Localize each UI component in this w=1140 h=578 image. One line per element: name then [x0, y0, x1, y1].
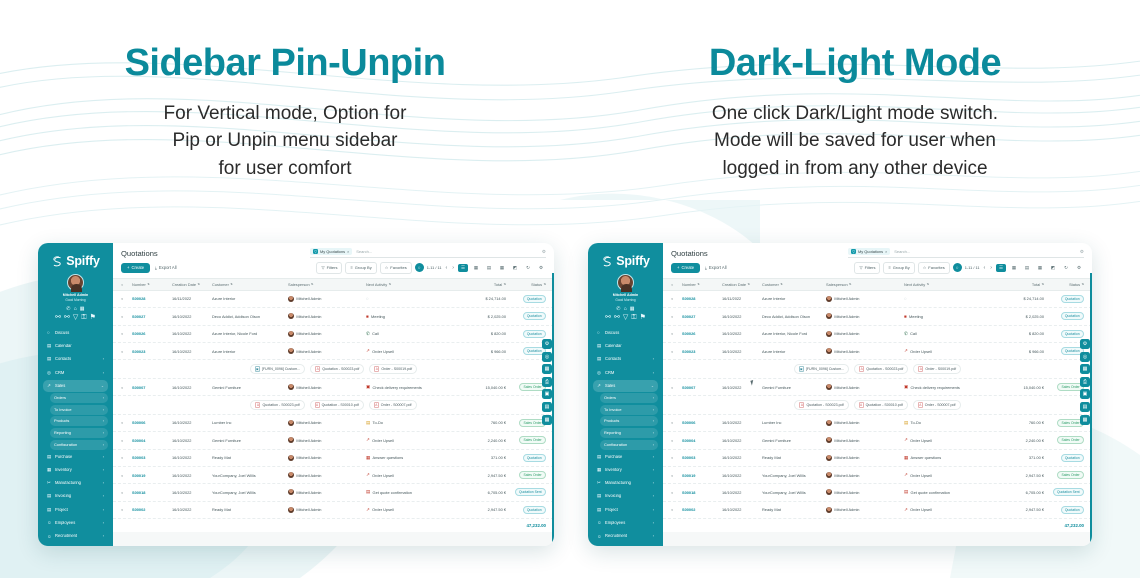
chevron-right-icon[interactable]: ›	[653, 494, 654, 498]
activity-label: Answer questions	[911, 455, 942, 460]
chevron-right-icon[interactable]: ›	[653, 396, 654, 400]
chevron-right-icon[interactable]: ›	[653, 481, 654, 485]
attachment-row: ▣[FURN_0096] Custom...AQuotation - S0002…	[663, 360, 1092, 379]
sidebar-item-discuss[interactable]: ○Discuss	[593, 327, 658, 339]
chevron-right-icon[interactable]: ›	[103, 396, 104, 400]
sidebar-item-contacts[interactable]: ▤Contacts›	[43, 354, 108, 366]
project-icon: ▤	[47, 507, 52, 513]
cell-total: $ 966.00	[458, 349, 506, 354]
sidebar-item-label: Purchase	[55, 455, 100, 459]
search-facet[interactable]: ▽My Quotations×	[848, 248, 890, 255]
row-checkbox[interactable]: ○	[121, 507, 132, 512]
pager-prev-icon[interactable]: ‹	[983, 265, 987, 271]
pager-next-icon[interactable]: ›	[451, 265, 455, 271]
select-all-checkbox[interactable]: ○	[671, 282, 682, 287]
column-header[interactable]: Number ⇅	[132, 282, 172, 287]
column-header[interactable]: Salesperson ⇅	[288, 282, 366, 287]
sidebar-item-recruitment[interactable]: ☺Recruitment›	[43, 530, 108, 542]
phone-icon[interactable]: ✆	[66, 306, 70, 313]
pivot-view-icon[interactable]: ▦	[497, 264, 507, 272]
column-header[interactable]: Total ⇅	[458, 282, 506, 287]
attachment-chip[interactable]: ▣[FURN_0096] Custom...	[250, 364, 305, 375]
user-greeting: Good Morning	[42, 298, 109, 303]
sidebar-item-discuss[interactable]: ○Discuss	[43, 327, 108, 339]
chevron-right-icon[interactable]: ›	[103, 431, 104, 435]
attachment-chip[interactable]: AQuotation - S00010.pdf	[854, 400, 908, 411]
activity-label: Order Upsell	[910, 438, 932, 443]
page-subtitle-left: For Vertical mode, Option for Pip or Unp…	[0, 100, 570, 183]
sidebar-item-label: Discuss	[605, 331, 654, 335]
note-fab-icon[interactable]: ▤	[542, 402, 552, 412]
row-checkbox[interactable]: ○	[671, 438, 682, 443]
attachment-chip[interactable]: AQuotation - S00023.pdf	[250, 400, 304, 411]
lock-icon[interactable]: ⚿	[81, 314, 86, 321]
cell-next-activity: ▣Check delivery requirements	[904, 384, 996, 390]
row-checkbox[interactable]: ○	[121, 296, 132, 301]
column-header[interactable]: Number ⇅	[682, 282, 722, 287]
sidebar-item-crm[interactable]: ◎CRM›	[593, 367, 658, 379]
brand-logo[interactable]: Spiffy	[42, 254, 109, 268]
sidebar-item-purchase[interactable]: ▤Purchase›	[593, 451, 658, 463]
sidebar-item-products[interactable]: Products›	[600, 416, 658, 426]
attachment-chip[interactable]: AOrder - S00007.pdf	[369, 400, 417, 411]
grid-fab-icon[interactable]: ▦	[1080, 364, 1090, 374]
column-header[interactable]: Next Activity ⇅	[904, 282, 996, 287]
sidebar-item-project[interactable]: ▤Project›	[43, 504, 108, 516]
camera-fab-icon[interactable]: ◎	[542, 352, 552, 362]
search-input[interactable]: ▽My Quotations×Search...⚙	[848, 248, 1084, 258]
sidebar-left[interactable]: SpiffyMitchell AdminGood Morning✆⌂▦⚯⚯▽⚿⚑…	[38, 243, 113, 546]
sidebar-item-contacts[interactable]: ▤Contacts›	[593, 354, 658, 366]
cell-total: $ 24,714.00	[996, 296, 1044, 301]
printer-fab-icon[interactable]: ⎙	[1080, 377, 1090, 387]
sidebar-right[interactable]: SpiffyMitchell AdminGood Morning✆⌂▦⚯⚯▽⚿⚑…	[588, 243, 663, 546]
page-title-left: Sidebar Pin-Unpin	[0, 44, 570, 84]
status-badge: Quotation	[506, 454, 546, 462]
sidebar-item-calendar[interactable]: ▤Calendar	[43, 340, 108, 352]
calc-fab-icon[interactable]: ▦	[1080, 415, 1090, 425]
table-row[interactable]: ○S0001916/10/2022YourCompany, Joel Willi…	[113, 467, 554, 484]
avatar-badge[interactable]: ○	[953, 263, 962, 272]
filter-icon[interactable]: ▽	[623, 314, 628, 321]
column-header[interactable]: Salesperson ⇅	[826, 282, 904, 287]
group-by-button[interactable]: ≡Group By	[345, 262, 376, 274]
attachment-chip[interactable]: AOrder - S00007.pdf	[913, 400, 961, 411]
save-fab-icon[interactable]: ▣	[1080, 389, 1090, 399]
sidebar-item-label: To Invoice	[54, 408, 100, 412]
sidebar-item-reporting[interactable]: Reporting›	[600, 428, 658, 438]
select-all-checkbox[interactable]: ○	[121, 282, 132, 287]
todo-icon: ▤	[366, 420, 370, 426]
sidebar-item-label: Manufacturing	[55, 481, 100, 485]
table-row[interactable]: ○S0002716/10/2022Deco Addict, Addison Ol…	[663, 308, 1092, 325]
chevron-right-icon[interactable]: ›	[653, 357, 654, 361]
pivot-view-icon[interactable]: ▦	[1035, 264, 1045, 272]
sidebar-item-invoicing[interactable]: ▤Invoicing›	[593, 491, 658, 503]
sidebar-item-sales[interactable]: ↗Sales⌄	[43, 380, 108, 392]
sidebar-item-employees[interactable]: ☺Employees›	[593, 517, 658, 529]
settings-fab-icon[interactable]: ⚙	[542, 339, 552, 349]
sidebar-item-to-invoice[interactable]: To Invoice›	[50, 405, 108, 415]
table-row[interactable]: ○S0000216/10/2022Ready MatMitchell Admin…	[113, 502, 554, 519]
brand-logo[interactable]: Spiffy	[592, 254, 659, 268]
row-checkbox[interactable]: ○	[121, 473, 132, 478]
table-header-row: ○Number ⇅Creation Date ⇅Customer ⇅Salesp…	[663, 278, 1092, 291]
attachment-label: Quotation - S00023.pdf	[866, 367, 903, 371]
printer-fab-icon[interactable]: ⎙	[542, 377, 552, 387]
app-screenshot-left[interactable]: SpiffyMitchell AdminGood Morning✆⌂▦⚯⚯▽⚿⚑…	[38, 243, 554, 546]
cell-number: S00004	[132, 438, 172, 443]
attachment-chip[interactable]: AQuotation - S00023.pdf	[310, 364, 364, 375]
table-row[interactable]: ○S0001816/10/2022YourCompany, Joel Willi…	[663, 484, 1092, 501]
sidebar-item-reporting[interactable]: Reporting›	[50, 428, 108, 438]
graph-view-icon[interactable]: ◩	[1048, 264, 1058, 272]
row-checkbox[interactable]: ○	[121, 438, 132, 443]
export-all-button[interactable]: ⤓Export All	[700, 263, 732, 273]
cell-creation-date: 16/10/2022	[722, 507, 762, 512]
phone-icon[interactable]: ✆	[616, 306, 620, 313]
calendar-view-icon[interactable]: ▤	[1022, 264, 1032, 272]
table-row[interactable]: ○S0002316/10/2022Azure InteriorMitchell …	[663, 343, 1092, 360]
table-row[interactable]: ○S0002816/11/2022Azure InteriorMitchell …	[113, 291, 554, 308]
cell-number: S00026	[132, 331, 172, 336]
chevron-right-icon[interactable]: ›	[103, 508, 104, 512]
table-row[interactable]: ○S0002816/11/2022Azure InteriorMitchell …	[663, 291, 1092, 308]
lock-icon[interactable]: ⚿	[631, 314, 636, 321]
sort-icon: ⇅	[147, 282, 150, 286]
chevron-right-icon[interactable]: ›	[653, 371, 654, 375]
avatar	[288, 348, 294, 354]
cell-total: 371.00 €	[996, 455, 1044, 460]
row-checkbox[interactable]: ○	[121, 349, 132, 354]
group-by-button[interactable]: ≡Group By	[883, 262, 914, 274]
kanban-view-icon[interactable]: ▦	[471, 264, 481, 272]
purchase-icon: ▤	[597, 454, 602, 460]
table-row[interactable]: ○S0002716/10/2022Deco Addict, Addison Ol…	[113, 308, 554, 325]
pdf-file-icon: A	[918, 366, 923, 372]
cell-next-activity: ■Meeting	[366, 314, 458, 319]
favorites-button[interactable]: ☆Favorites	[380, 262, 412, 274]
avatar[interactable]	[617, 274, 634, 291]
table-row[interactable]: ○S0002316/10/2022Azure InteriorMitchell …	[113, 343, 554, 360]
sidebar-item-configuration[interactable]: Configuration›	[50, 440, 108, 450]
sort-icon: ⇅	[1081, 282, 1084, 286]
vertical-scrollbar[interactable]	[1090, 273, 1092, 546]
quick-icons-row-2[interactable]: ⚯⚯▽⚿⚑	[42, 314, 109, 321]
note-fab-icon[interactable]: ▤	[1080, 402, 1090, 412]
camera-fab-icon[interactable]: ◎	[1080, 352, 1090, 362]
row-checkbox[interactable]: ○	[121, 455, 132, 460]
pin-icon[interactable]: ⚑	[640, 314, 646, 321]
cell-number: S00027	[682, 314, 722, 319]
sidebar-item-products[interactable]: Products›	[50, 416, 108, 426]
search-facet[interactable]: ▽My Quotations×	[310, 248, 352, 255]
sidebar-item-purchase[interactable]: ▤Purchase›	[43, 451, 108, 463]
chevron-right-icon[interactable]: ›	[103, 357, 104, 361]
table-row[interactable]: ○S0000316/10/2022Ready MatMitchell Admin…	[663, 450, 1092, 467]
status-badge: Quotation	[1044, 347, 1084, 355]
project-icon: ▤	[597, 507, 602, 513]
pager-prev-icon[interactable]: ‹	[445, 265, 449, 271]
chevron-right-icon[interactable]: ›	[653, 408, 654, 412]
close-icon[interactable]: ×	[347, 250, 349, 254]
quick-icons-row-2[interactable]: ⚯⚯▽⚿⚑	[592, 314, 659, 321]
attachment-chip[interactable]: AOrder - S00019.pdf	[369, 364, 417, 375]
cell-salesperson: Mitchell Admin	[288, 507, 366, 513]
chevron-right-icon[interactable]: ›	[103, 419, 104, 423]
todo-icon: ▤	[904, 420, 908, 426]
gear-icon[interactable]: ⚙	[1080, 249, 1084, 255]
create-label: Create	[131, 265, 144, 270]
sidebar-item-apps[interactable]: ▦Apps›	[43, 543, 108, 546]
calc-fab-icon[interactable]: ▦	[542, 415, 552, 425]
table-row[interactable]: ○S0001916/10/2022YourCompany, Joel Willi…	[663, 467, 1092, 484]
pager[interactable]: 1-11 / 11	[427, 265, 442, 270]
status-badge: Quotation	[1044, 506, 1084, 514]
sidebar-item-invoicing[interactable]: ▤Invoicing›	[43, 491, 108, 503]
page-title-right: Dark-Light Mode	[570, 44, 1140, 84]
column-header[interactable]: Creation Date ⇅	[172, 282, 212, 287]
table-row[interactable]: ○S0000216/10/2022Ready MatMitchell Admin…	[663, 502, 1092, 519]
row-checkbox[interactable]: ○	[671, 296, 682, 301]
pager-next-icon[interactable]: ›	[989, 265, 993, 271]
column-header[interactable]: Next Activity ⇅	[366, 282, 458, 287]
sidebar-item-label: Inventory	[55, 468, 100, 472]
attachment-chip[interactable]: AQuotation - S00023.pdf	[854, 364, 908, 375]
avatar-badge[interactable]: ○	[415, 263, 424, 272]
sort-icon: ⇅	[543, 282, 546, 286]
quotations-table: ○Number ⇅Creation Date ⇅Customer ⇅Salesp…	[113, 278, 554, 546]
chevron-right-icon[interactable]: ›	[103, 443, 104, 447]
settings-cog-icon[interactable]: ⚙	[536, 264, 546, 272]
user-block[interactable]: Mitchell AdminGood Morning	[592, 274, 659, 303]
chevron-right-icon[interactable]: ›	[653, 419, 654, 423]
sidebar-item-crm[interactable]: ◎CRM›	[43, 367, 108, 379]
search-input[interactable]: ▽My Quotations×Search...⚙	[310, 248, 546, 258]
row-checkbox[interactable]: ○	[671, 349, 682, 354]
favorites-button[interactable]: ☆Favorites	[918, 262, 950, 274]
cell-customer: Ready Mat	[762, 455, 826, 460]
home-icon[interactable]: ⌂	[624, 306, 627, 313]
cell-next-activity: ○	[904, 296, 996, 301]
chevron-right-icon[interactable]: ›	[103, 481, 104, 485]
chevron-right-icon[interactable]: ›	[653, 534, 654, 538]
link-icon[interactable]: ⚯	[605, 314, 611, 321]
table-row[interactable]: ○S0000316/10/2022Ready MatMitchell Admin…	[113, 450, 554, 467]
avatar	[826, 472, 832, 478]
sidebar-item-label: Manufacturing	[605, 481, 650, 485]
sidebar-item-apps[interactable]: ▦Apps›	[593, 543, 658, 546]
phone-icon: ✆	[366, 331, 370, 337]
chevron-right-icon[interactable]: ›	[653, 455, 654, 459]
table-row[interactable]: ○S0000616/10/2022Lumber IncMitchell Admi…	[113, 415, 554, 432]
home-icon[interactable]: ⌂	[74, 306, 77, 313]
brand-name: Spiffy	[616, 254, 650, 268]
main-content-right: Quotations▽My Quotations×Search...⚙+Crea…	[663, 243, 1092, 546]
sidebar-item-project[interactable]: ▤Project›	[593, 504, 658, 516]
table-row[interactable]: ○S0000616/10/2022Lumber IncMitchell Admi…	[663, 415, 1092, 432]
sidebar-item-sales[interactable]: ↗Sales⌄	[593, 380, 658, 392]
row-checkbox[interactable]: ○	[671, 420, 682, 425]
group-icon: ≡	[350, 265, 352, 270]
pdf-file-icon: A	[918, 402, 923, 408]
save-fab-icon[interactable]: ▣	[542, 389, 552, 399]
column-header[interactable]: Customer ⇅	[212, 282, 288, 287]
table-row[interactable]: ○S0000416/10/2022Gemini FurnitureMitchel…	[663, 432, 1092, 449]
attachment-label: [FURN_0096] Custom...	[806, 367, 844, 371]
chevron-right-icon[interactable]: ›	[653, 521, 654, 525]
chevron-right-icon[interactable]: ›	[653, 431, 654, 435]
purchase-icon: ▤	[47, 454, 52, 460]
graph-view-icon[interactable]: ◩	[510, 264, 520, 272]
attachment-label: Order - S00007.pdf	[381, 403, 412, 407]
floating-action-buttons[interactable]: ⚙◎▦⎙▣▤▦	[542, 339, 552, 425]
column-header[interactable]: Creation Date ⇅	[722, 282, 762, 287]
column-header[interactable]: Customer ⇅	[762, 282, 826, 287]
column-header[interactable]: Status ⇅	[506, 282, 546, 287]
status-badge: Quotation	[506, 506, 546, 514]
table-row[interactable]: ○S0000716/10/2022Gemini FurnitureMitchel…	[663, 379, 1092, 396]
table-row[interactable]: ○S0002616/10/2022Azure Interior, Nicole …	[663, 326, 1092, 343]
sidebar-item-calendar[interactable]: ▤Calendar	[593, 340, 658, 352]
sidebar-item-inventory[interactable]: ▦Inventory›	[43, 464, 108, 476]
settings-fab-icon[interactable]: ⚙	[1080, 339, 1090, 349]
activity-view-icon[interactable]: ↻	[1061, 264, 1071, 272]
attachment-label: Quotation - S00010.pdf	[322, 403, 359, 407]
kanban-view-icon[interactable]: ▦	[1009, 264, 1019, 272]
chevron-right-icon[interactable]: ›	[653, 443, 654, 447]
filters-button[interactable]: ▽Filters	[854, 262, 880, 274]
floating-action-buttons[interactable]: ⚙◎▦⎙▣▤▦	[1080, 339, 1090, 425]
chevron-right-icon[interactable]: ›	[103, 408, 104, 412]
cell-total: $ 820.00	[996, 331, 1044, 336]
sidebar-item-to-invoice[interactable]: To Invoice›	[600, 405, 658, 415]
app-screenshot-right[interactable]: SpiffyMitchell AdminGood Morning✆⌂▦⚯⚯▽⚿⚑…	[588, 243, 1092, 546]
gear-icon[interactable]: ⚙	[542, 249, 546, 255]
cell-creation-date: 16/10/2022	[722, 349, 762, 354]
sidebar-menu[interactable]: ○Discuss▤Calendar▤Contacts›◎CRM›↗Sales⌄O…	[42, 327, 109, 546]
quick-icons-row-1[interactable]: ✆⌂▦	[592, 306, 659, 313]
attachment-chip[interactable]: AQuotation - S00010.pdf	[310, 400, 364, 411]
recruitment-icon: ☺	[47, 534, 52, 539]
column-header[interactable]: Status ⇅	[1044, 282, 1084, 287]
calculator-icon[interactable]: ▦	[630, 306, 635, 313]
row-checkbox[interactable]: ○	[121, 331, 132, 336]
attachment-label: Quotation - S00023.pdf	[806, 403, 843, 407]
chevron-right-icon[interactable]: ›	[103, 455, 104, 459]
row-checkbox[interactable]: ○	[671, 490, 682, 495]
chevron-right-icon[interactable]: ›	[653, 468, 654, 472]
avatar[interactable]	[67, 274, 84, 291]
sidebar-item-manufacturing[interactable]: ✂Manufacturing›	[43, 477, 108, 489]
pin-icon[interactable]: ⚑	[90, 314, 96, 321]
table-row[interactable]: ○S0000416/10/2022Gemini FurnitureMitchel…	[113, 432, 554, 449]
sidebar-item-employees[interactable]: ☺Employees›	[43, 517, 108, 529]
create-button[interactable]: +Create	[121, 263, 150, 273]
export-all-button[interactable]: ⤓Export All	[150, 263, 182, 273]
activity-label: Get quote confirmation	[911, 490, 950, 495]
table-row[interactable]: ○S0002616/10/2022Azure Interior, Nicole …	[113, 326, 554, 343]
chevron-down-icon[interactable]: ⌄	[651, 384, 654, 388]
sidebar-item-configuration[interactable]: Configuration›	[600, 440, 658, 450]
row-checkbox[interactable]: ○	[671, 455, 682, 460]
avatar	[288, 489, 294, 495]
pdf-file-icon: A	[799, 402, 804, 408]
attachment-label: Order - S00007.pdf	[925, 403, 956, 407]
table-row[interactable]: ○S0001816/10/2022YourCompany, Joel Willi…	[113, 484, 554, 501]
calculator-icon[interactable]: ▦	[80, 306, 85, 313]
chevron-right-icon[interactable]: ›	[103, 468, 104, 472]
row-checkbox[interactable]: ○	[121, 385, 132, 390]
cell-customer: Lumber Inc	[762, 420, 826, 425]
grand-total-row: 47,232.00	[663, 519, 1092, 532]
row-checkbox[interactable]: ○	[121, 420, 132, 425]
status-badge: Sales Order	[1044, 419, 1084, 427]
sidebar-item-manufacturing[interactable]: ✂Manufacturing›	[593, 477, 658, 489]
user-block[interactable]: Mitchell AdminGood Morning	[42, 274, 109, 303]
quick-icons-row-1[interactable]: ✆⌂▦	[42, 306, 109, 313]
row-checkbox[interactable]: ○	[671, 473, 682, 478]
close-icon[interactable]: ×	[885, 250, 887, 254]
row-checkbox[interactable]: ○	[671, 385, 682, 390]
chevron-right-icon[interactable]: ›	[103, 371, 104, 375]
pdf-file-icon: A	[315, 402, 320, 408]
cell-customer: Azure Interior	[212, 296, 288, 301]
chevron-down-icon[interactable]: ⌄	[101, 384, 104, 388]
sidebar-item-orders[interactable]: Orders›	[50, 393, 108, 403]
link-icon[interactable]: ⚯	[55, 314, 61, 321]
column-header[interactable]: Total ⇅	[996, 282, 1044, 287]
table-row[interactable]: ○S0000716/10/2022Gemini FurnitureMitchel…	[113, 379, 554, 396]
activity-view-icon[interactable]: ↻	[523, 264, 533, 272]
chevron-right-icon[interactable]: ›	[653, 508, 654, 512]
link-alt-icon[interactable]: ⚯	[64, 314, 70, 321]
sidebar-item-orders[interactable]: Orders›	[600, 393, 658, 403]
create-button[interactable]: +Create	[671, 263, 700, 273]
status-badge: Sales Order	[1044, 471, 1084, 479]
sidebar-item-recruitment[interactable]: ☺Recruitment›	[593, 530, 658, 542]
list-view-icon[interactable]: ☰	[458, 264, 468, 272]
chat-icon: ○	[597, 330, 602, 335]
chevron-right-icon[interactable]: ›	[103, 494, 104, 498]
row-checkbox[interactable]: ○	[121, 490, 132, 495]
calendar-view-icon[interactable]: ▤	[484, 264, 494, 272]
list-view-icon[interactable]: ☰	[996, 264, 1006, 272]
row-checkbox[interactable]: ○	[671, 314, 682, 319]
settings-cog-icon[interactable]: ⚙	[1074, 264, 1084, 272]
vertical-scrollbar[interactable]	[552, 273, 554, 546]
sidebar-item-label: CRM	[55, 371, 100, 375]
chevron-right-icon[interactable]: ›	[103, 521, 104, 525]
row-checkbox[interactable]: ○	[121, 314, 132, 319]
row-checkbox[interactable]: ○	[671, 331, 682, 336]
link-alt-icon[interactable]: ⚯	[614, 314, 620, 321]
grid-fab-icon[interactable]: ▦	[542, 364, 552, 374]
chevron-right-icon[interactable]: ›	[103, 534, 104, 538]
row-checkbox[interactable]: ○	[671, 507, 682, 512]
filter-icon: ▽	[313, 249, 318, 254]
sort-icon: ⇅	[311, 282, 314, 286]
cell-customer: Azure Interior	[762, 349, 826, 354]
pager[interactable]: 1-11 / 11	[965, 265, 980, 270]
sidebar-item-inventory[interactable]: ▦Inventory›	[593, 464, 658, 476]
sidebar-menu[interactable]: ○Discuss▤Calendar▤Contacts›◎CRM›↗Sales⌄O…	[592, 327, 659, 546]
attachment-chip[interactable]: ▣[FURN_0096] Custom...	[794, 364, 849, 375]
attachment-chip[interactable]: AOrder - S00019.pdf	[913, 364, 961, 375]
attachment-chip[interactable]: AQuotation - S00023.pdf	[794, 400, 848, 411]
filter-icon[interactable]: ▽	[73, 314, 78, 321]
filters-button[interactable]: ▽Filters	[316, 262, 342, 274]
